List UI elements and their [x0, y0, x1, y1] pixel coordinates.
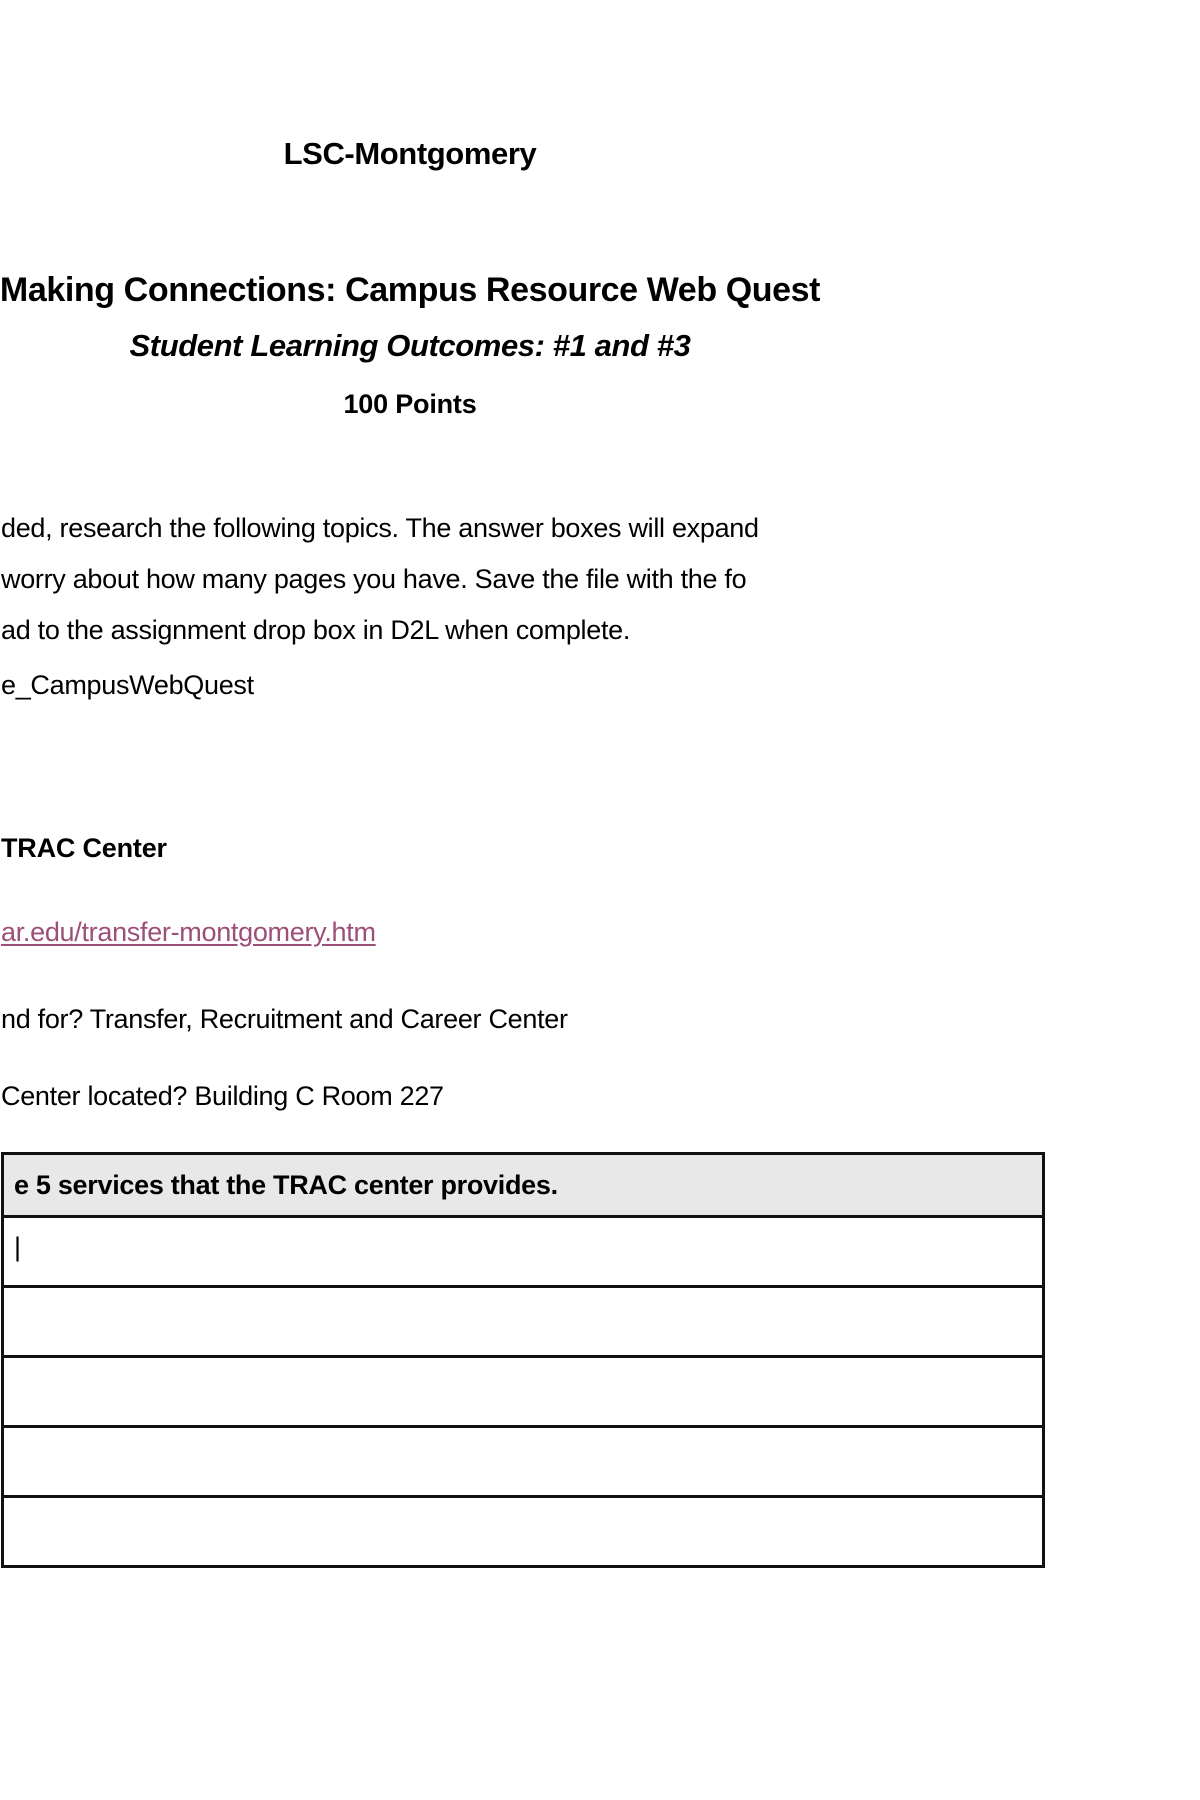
trac-center-hyperlink[interactable]: ar.edu/transfer-montgomery.htm: [1, 917, 376, 947]
table-row[interactable]: [3, 1497, 1044, 1567]
assignment-title: Making Connections: Campus Resource Web …: [0, 268, 1045, 312]
table-prompt-cell: e 5 services that the TRAC center provid…: [3, 1154, 1044, 1217]
answer-cell-4[interactable]: [3, 1427, 1044, 1497]
table-row[interactable]: [3, 1357, 1044, 1427]
student-learning-outcomes: Student Learning Outcomes: #1 and #3: [0, 325, 1045, 367]
answer-cell-5[interactable]: [3, 1497, 1044, 1567]
document-sheet: LSC-Montgomery Making Connections: Campu…: [0, 0, 1045, 1800]
points-value: 100 Points: [0, 386, 1045, 422]
question-answer-acronym: nd for? Transfer, Recruitment and Career…: [1, 1004, 568, 1035]
table-row[interactable]: [3, 1427, 1044, 1497]
question-answer-location: Center located? Building C Room 227: [1, 1081, 444, 1112]
trac-center-link-line: ar.edu/transfer-montgomery.htm: [1, 917, 376, 948]
file-naming-line: e_CampusWebQuest: [1, 662, 1045, 709]
table-row[interactable]: [3, 1287, 1044, 1357]
answer-cell-3[interactable]: [3, 1357, 1044, 1427]
instructions-line-1: ded, research the following topics. The …: [1, 505, 1045, 552]
answer-cell-1[interactable]: |: [3, 1217, 1044, 1287]
services-answer-table: e 5 services that the TRAC center provid…: [1, 1152, 1045, 1568]
answer-cell-2[interactable]: [3, 1287, 1044, 1357]
table-row-prompt: e 5 services that the TRAC center provid…: [3, 1154, 1044, 1217]
instructions-line-3: ad to the assignment drop box in D2L whe…: [1, 607, 1045, 654]
instructions-line-2: worry about how many pages you have. Sav…: [1, 556, 1045, 603]
section-heading-trac-center: TRAC Center: [1, 833, 167, 864]
document-page: LSC-Montgomery Making Connections: Campu…: [0, 0, 1200, 1800]
page-title: LSC-Montgomery: [0, 134, 1045, 174]
table-row[interactable]: |: [3, 1217, 1044, 1287]
